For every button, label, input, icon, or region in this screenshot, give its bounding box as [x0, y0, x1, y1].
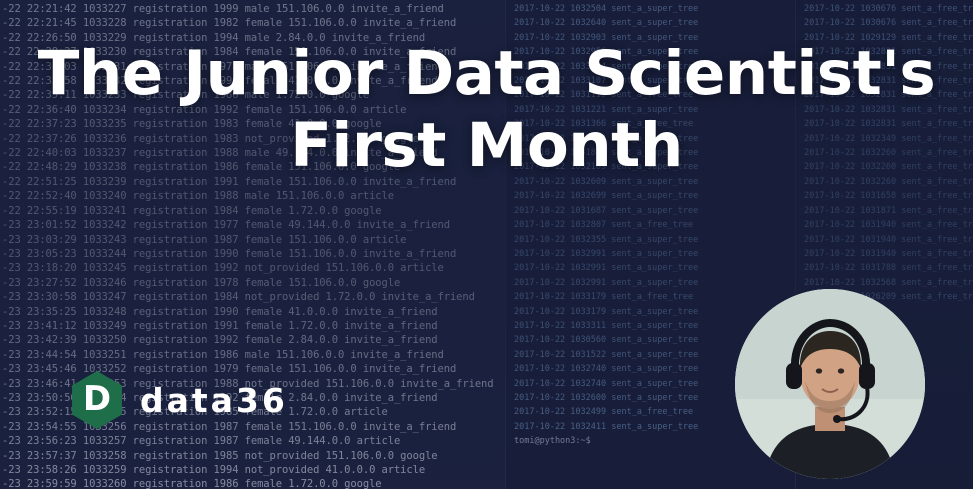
terminal-line: -23 23:03:29 1033243 registration 1987 f… [2, 233, 505, 247]
banner: -22 22:21:42 1033227 registration 1999 m… [0, 0, 973, 489]
terminal-line: 2017-10-22 1032568 sent_a_free_tree [804, 276, 973, 290]
logo-wordmark: data36 [140, 381, 288, 420]
terminal-line: -23 23:44:54 1033251 registration 1986 m… [2, 348, 505, 362]
terminal-line: 2017-10-22 1032355 sent_a_super_tree [514, 233, 795, 247]
terminal-line: 2017-10-22 1032991 sent_a_super_tree [514, 276, 795, 290]
terminal-line: -23 23:56:23 1033257 registration 1987 f… [2, 434, 505, 448]
terminal-line: 2017-10-22 1032991 sent_a_super_tree [514, 261, 795, 275]
terminal-line: -22 22:55:19 1033241 registration 1984 f… [2, 204, 505, 218]
terminal-line: 2017-10-22 1032640 sent_a_super_tree [514, 16, 795, 30]
terminal-line: 2017-10-22 1031940 sent_a_free_tree [804, 247, 973, 261]
hexagon-d-icon: D [68, 371, 126, 429]
terminal-line: 2017-10-22 1030676 sent_a_free_tree [804, 16, 973, 30]
logo-mark-letter: D [68, 371, 126, 429]
terminal-line: 2017-10-22 1032991 sent_a_super_tree [514, 247, 795, 261]
terminal-line: -22 22:21:42 1033227 registration 1999 m… [2, 2, 505, 16]
data36-logo: D data36 [68, 371, 288, 429]
terminal-line: -22 22:52:40 1033240 registration 1988 m… [2, 189, 505, 203]
terminal-line: -23 23:05:23 1033244 registration 1990 f… [2, 247, 505, 261]
terminal-line: 2017-10-22 1031871 sent_a_free_tree [804, 204, 973, 218]
terminal-line: 2017-10-22 1033179 sent_a_super_tree [514, 305, 795, 319]
terminal-line: 2017-10-22 1030676 sent_a_free_tree [804, 2, 973, 16]
terminal-line: 2017-10-22 1033179 sent_a_free_tree [514, 290, 795, 304]
terminal-line: -23 23:41:12 1033249 registration 1991 f… [2, 319, 505, 333]
terminal-line: 2017-10-22 1031940 sent_a_free_tree [804, 233, 973, 247]
terminal-line: 2017-10-22 1031788 sent_a_free_tree [804, 261, 973, 275]
terminal-line: 2017-10-22 1032699 sent_a_super_tree [514, 189, 795, 203]
terminal-line: 2017-10-22 1031687 sent_a_super_tree [514, 204, 795, 218]
terminal-line: 2017-10-22 1031658 sent_a_free_tree [804, 189, 973, 203]
avatar [735, 289, 925, 479]
terminal-line: -23 23:59:59 1033260 registration 1986 f… [2, 477, 505, 489]
headline-line-1: The Junior Data Scientist's [38, 38, 936, 109]
terminal-line: -22 22:21:45 1033228 registration 1982 f… [2, 16, 505, 30]
page-title: The Junior Data Scientist's First Month [0, 38, 973, 182]
terminal-line: 2017-10-22 1031940 sent_a_free_tree [804, 218, 973, 232]
terminal-line: -23 23:01:52 1033242 registration 1977 f… [2, 218, 505, 232]
terminal-line: -23 23:18:20 1033245 registration 1992 n… [2, 261, 505, 275]
terminal-line: -23 23:42:39 1033250 registration 1992 f… [2, 333, 505, 347]
terminal-line: -23 23:35:25 1033248 registration 1990 f… [2, 305, 505, 319]
terminal-line: -23 23:58:26 1033259 registration 1994 n… [2, 463, 505, 477]
terminal-line: 2017-10-22 1032807 sent_a_free_tree [514, 218, 795, 232]
headline-line-2: First Month [0, 110, 973, 182]
portrait-illustration [735, 289, 925, 479]
terminal-line: 2017-10-22 1032504 sent_a_super_tree [514, 2, 795, 16]
terminal-line: -23 23:57:37 1033258 registration 1985 n… [2, 449, 505, 463]
terminal-line: -23 23:30:58 1033247 registration 1984 n… [2, 290, 505, 304]
terminal-line: -23 23:27:52 1033246 registration 1978 f… [2, 276, 505, 290]
